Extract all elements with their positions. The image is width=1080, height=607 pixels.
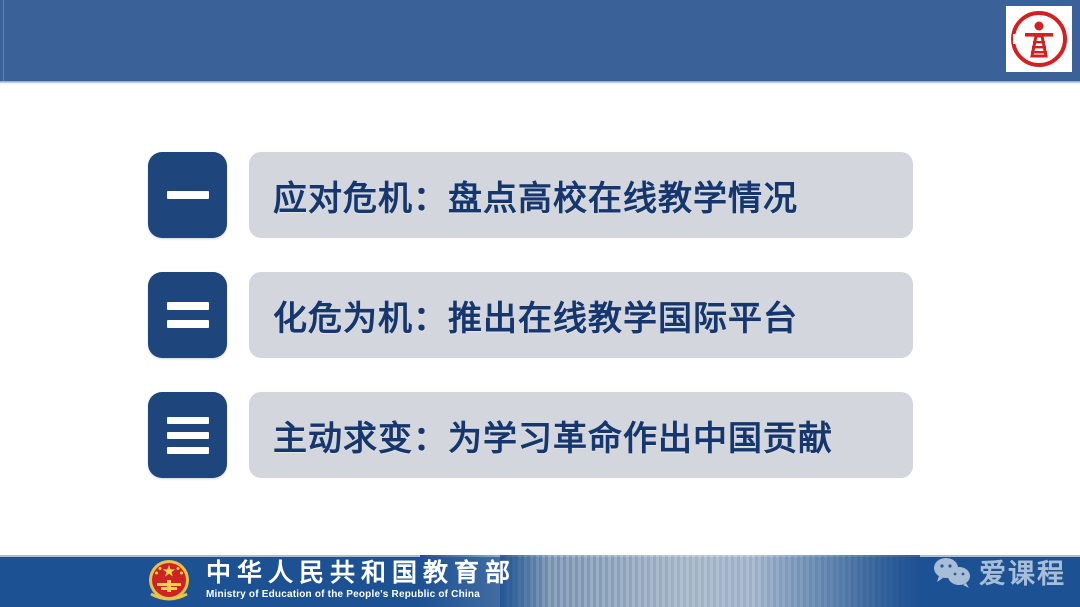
icourse-circular-logo-icon bbox=[1008, 8, 1070, 70]
marker-stroke bbox=[167, 302, 209, 310]
agenda-pill-1[interactable]: 应对危机：盘点高校在线教学情况 bbox=[249, 152, 913, 238]
header-accent-line bbox=[3, 0, 4, 81]
marker-stroke bbox=[167, 191, 209, 199]
presentation-slide: 应对危机：盘点高校在线教学情况 化危为机：推出在线教学国际平台 主动求变：为学习… bbox=[0, 0, 1080, 607]
agenda-pill-2[interactable]: 化危为机：推出在线教学国际平台 bbox=[249, 272, 913, 358]
list-item[interactable]: 化危为机：推出在线教学国际平台 bbox=[0, 272, 1080, 358]
ministry-building-photo bbox=[500, 555, 920, 607]
agenda-list: 应对危机：盘点高校在线教学情况 化危为机：推出在线教学国际平台 主动求变：为学习… bbox=[0, 152, 1080, 512]
header-band-edge bbox=[0, 81, 1080, 84]
ministry-wordmark: 中华人民共和国教育部 Ministry of Education of the … bbox=[206, 560, 516, 600]
list-item[interactable]: 应对危机：盘点高校在线教学情况 bbox=[0, 152, 1080, 238]
slide-header-band bbox=[0, 0, 1080, 81]
marker-stroke bbox=[167, 447, 209, 454]
agenda-pill-3[interactable]: 主动求变：为学习革命作出中国贡献 bbox=[249, 392, 913, 478]
marker-stroke bbox=[167, 417, 209, 424]
marker-stroke bbox=[167, 432, 209, 439]
marker-stroke bbox=[167, 320, 209, 328]
agenda-label-1: 应对危机：盘点高校在线教学情况 bbox=[273, 171, 798, 220]
list-item[interactable]: 主动求变：为学习革命作出中国贡献 bbox=[0, 392, 1080, 478]
ministry-name-en: Ministry of Education of the People's Re… bbox=[206, 590, 516, 600]
national-emblem-icon bbox=[145, 556, 193, 606]
agenda-marker-3 bbox=[148, 392, 227, 478]
agenda-marker-1 bbox=[148, 152, 227, 238]
agenda-label-3: 主动求变：为学习革命作出中国贡献 bbox=[273, 411, 833, 460]
agenda-marker-2 bbox=[148, 272, 227, 358]
icourse-logo bbox=[1006, 6, 1072, 72]
agenda-label-2: 化危为机：推出在线教学国际平台 bbox=[273, 291, 798, 340]
ministry-name-cn: 中华人民共和国教育部 bbox=[206, 560, 516, 585]
slide-footer-band: 中华人民共和国教育部 Ministry of Education of the … bbox=[0, 555, 1080, 607]
